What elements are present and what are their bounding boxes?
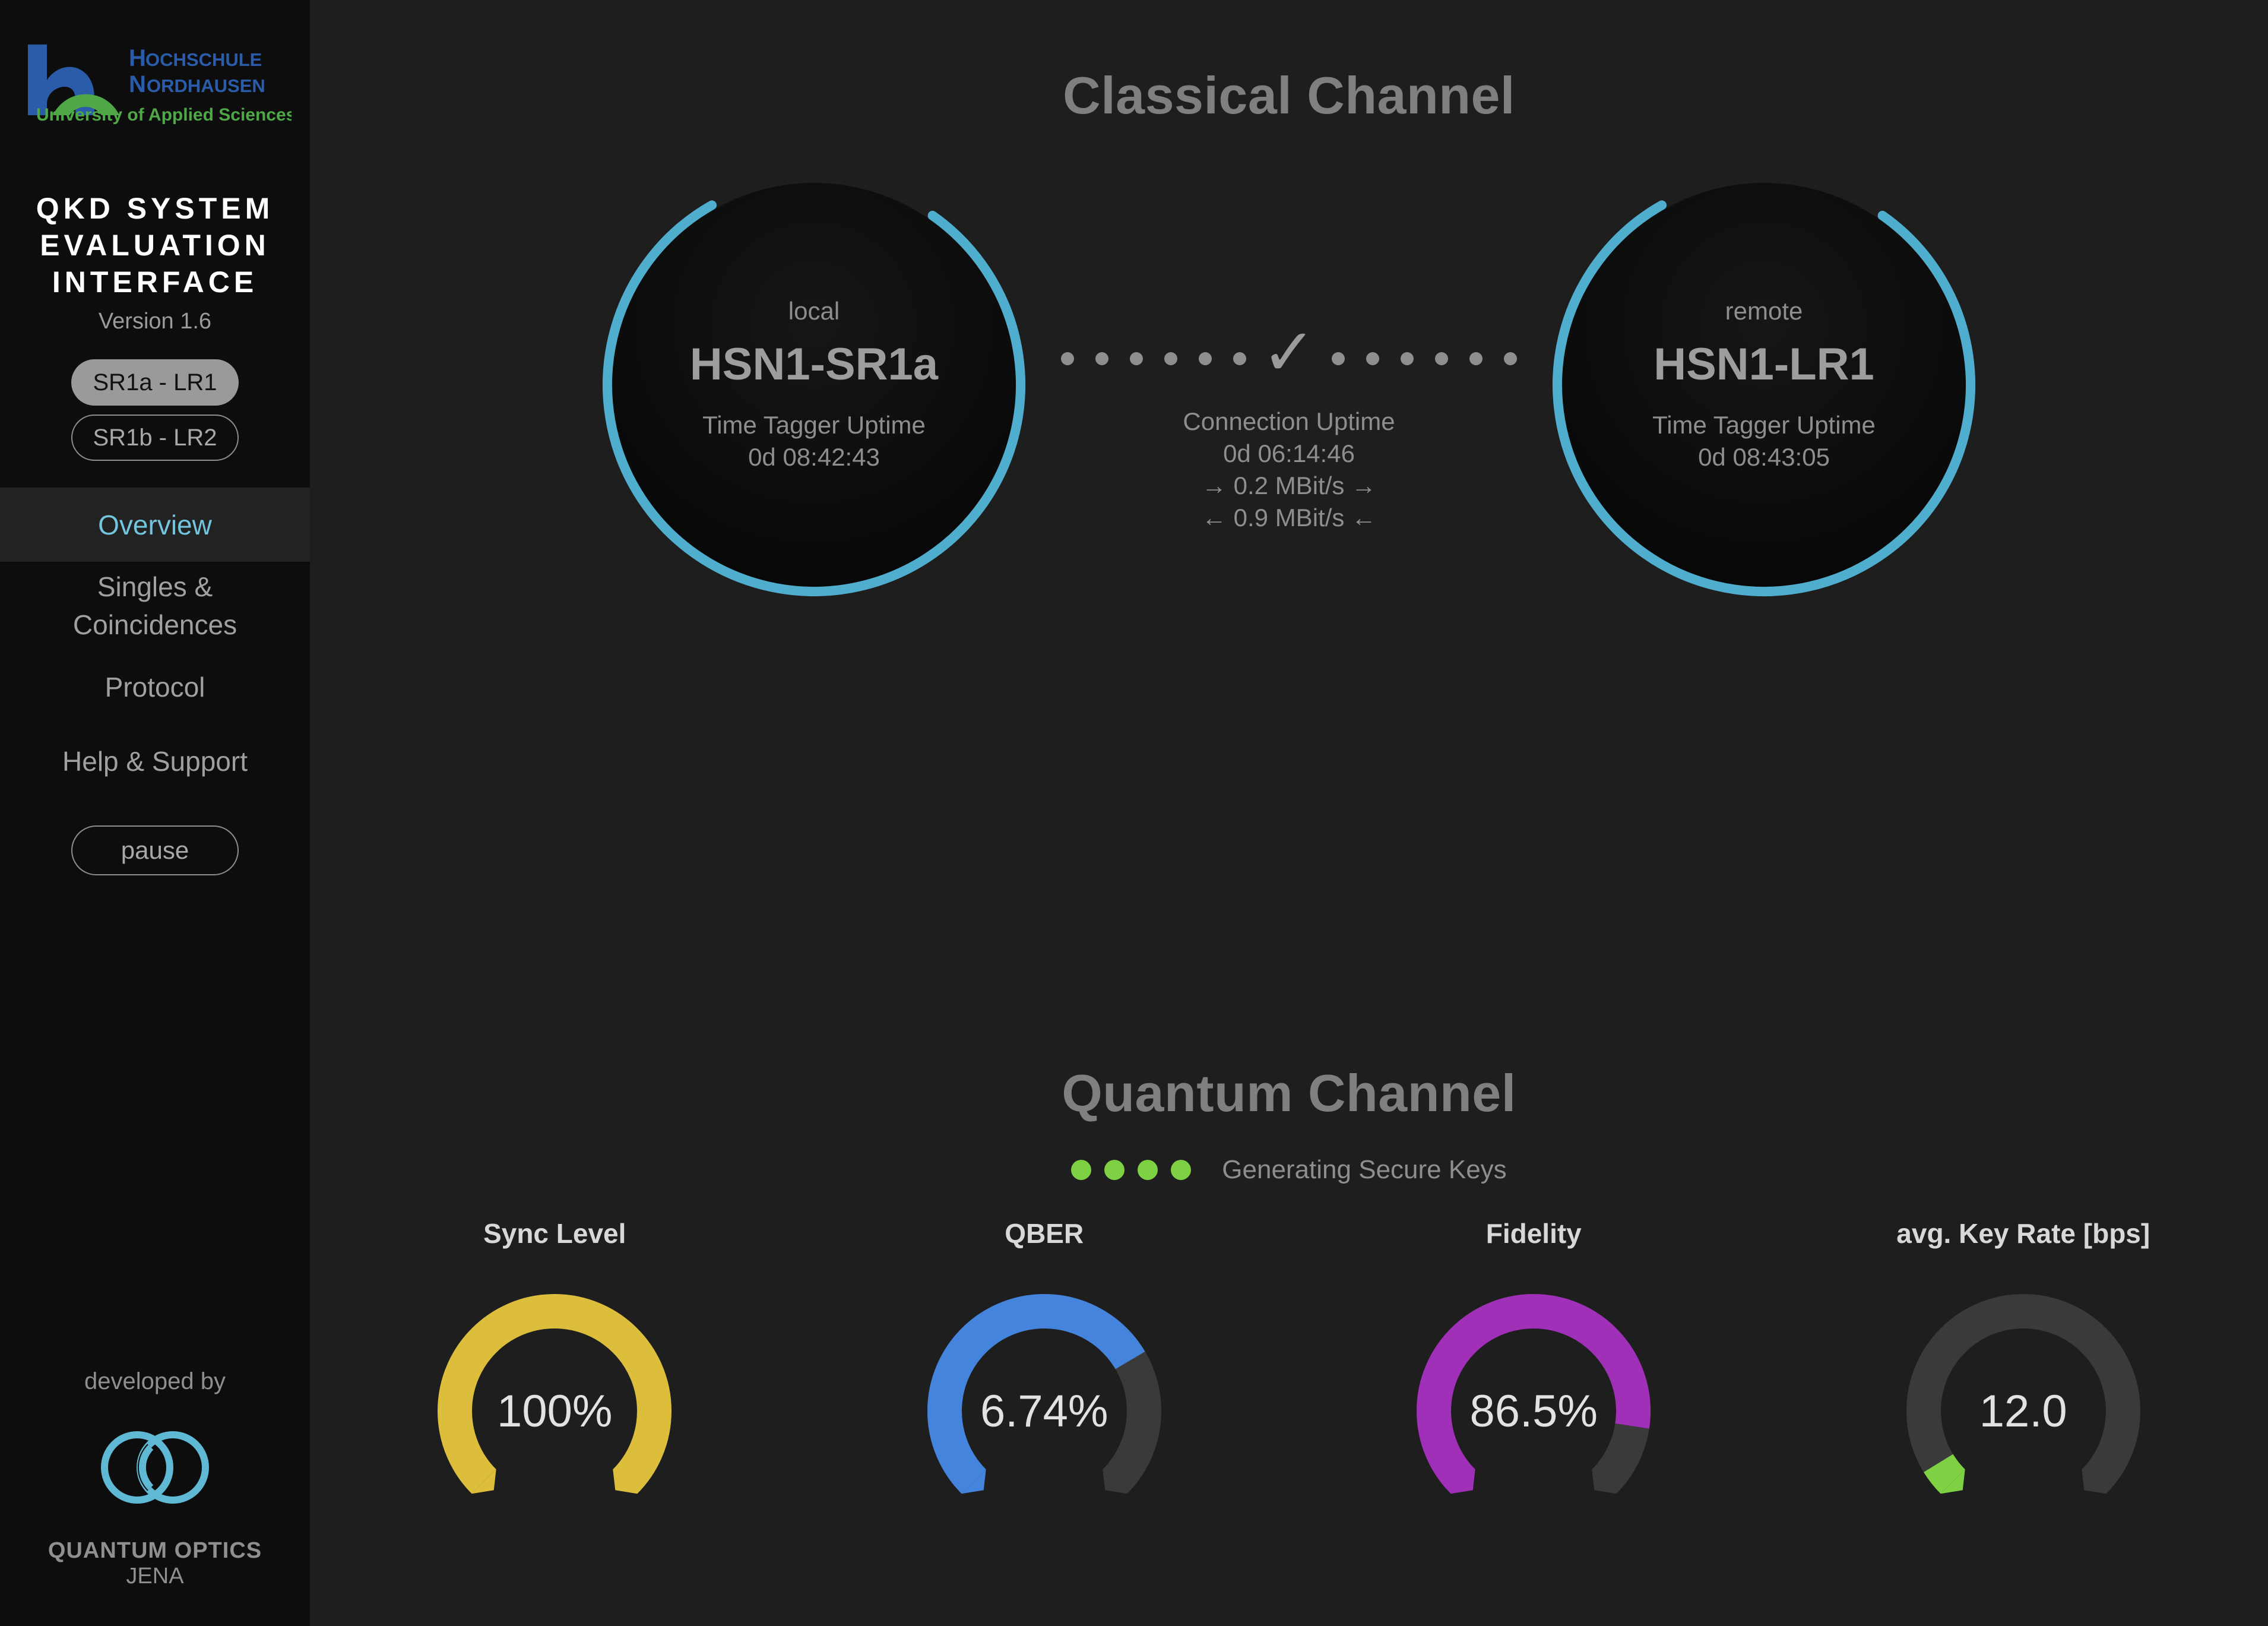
link-dot bbox=[1401, 352, 1414, 365]
quantum-optics-jena-logo-icon bbox=[81, 1413, 229, 1523]
gauge-label: Sync Level bbox=[483, 1217, 626, 1249]
sidebar-item-singles-coincidences[interactable]: Singles & Coincidences bbox=[0, 562, 310, 650]
gauge-label: Fidelity bbox=[1486, 1217, 1582, 1249]
status-dot bbox=[1104, 1160, 1125, 1180]
gauge-value-text: 86.5% bbox=[1409, 1286, 1658, 1536]
developer-credit: developed by QUANTUM OPTICS JENA bbox=[0, 1368, 310, 1589]
qkd-evaluation-interface: H OCHSCHULE N ORDHAUSEN University of Ap… bbox=[0, 0, 2268, 1626]
remote-node-name: HSN1-LR1 bbox=[1654, 339, 1874, 390]
connection-ok-check-icon: ✓ bbox=[1262, 327, 1316, 379]
company-name: QUANTUM OPTICS bbox=[0, 1538, 310, 1564]
gauge-ring: 100% bbox=[430, 1286, 679, 1536]
link-dot bbox=[1164, 352, 1177, 365]
remote-node-uptime-label: Time Tagger Uptime bbox=[1652, 409, 1876, 441]
company-city: JENA bbox=[0, 1564, 310, 1589]
connection-info: Connection Uptime 0d 06:14:46 → 0.2 MBit… bbox=[1031, 406, 1547, 534]
app-title: QKD SYSTEM EVALUATION INTERFACE bbox=[0, 190, 310, 300]
link-dot bbox=[1095, 352, 1108, 365]
quantum-status-row: Generating Secure Keys bbox=[310, 1155, 2268, 1185]
sidebar: H OCHSCHULE N ORDHAUSEN University of Ap… bbox=[0, 0, 310, 1626]
link-dot bbox=[1332, 352, 1345, 365]
svg-text:H: H bbox=[129, 45, 146, 71]
status-dot bbox=[1138, 1160, 1158, 1180]
link-dots-left bbox=[1061, 352, 1246, 365]
gauge-label: QBER bbox=[1005, 1217, 1084, 1249]
gauge-value-text: 6.74% bbox=[920, 1286, 1169, 1536]
svg-text:OCHSCHULE: OCHSCHULE bbox=[145, 49, 262, 70]
status-dot bbox=[1071, 1160, 1091, 1180]
connection-uptime-value: 0d 06:14:46 bbox=[1031, 438, 1547, 470]
device-pair-selector: SR1a - LR1 SR1b - LR2 bbox=[71, 359, 239, 461]
quantum-metric-gauges: Sync Level100%QBER6.74%Fidelity86.5%avg.… bbox=[310, 1217, 2268, 1586]
remote-node[interactable]: remote HSN1-LR1 Time Tagger Uptime 0d 08… bbox=[1547, 168, 1981, 602]
classical-channel-title: Classical Channel bbox=[310, 65, 2268, 126]
link-dot bbox=[1435, 352, 1448, 365]
gauge-fidelity: Fidelity86.5% bbox=[1350, 1217, 1718, 1536]
app-version: Version 1.6 bbox=[0, 309, 310, 334]
main-content: Classical Channel local HSN1-SR1 bbox=[310, 0, 2268, 1626]
link-dot bbox=[1199, 352, 1212, 365]
link-dot bbox=[1061, 352, 1074, 365]
local-node-uptime-label: Time Tagger Uptime bbox=[702, 409, 926, 441]
classical-channel-row: local HSN1-SR1a Time Tagger Uptime 0d 08… bbox=[310, 153, 2268, 616]
link-dot bbox=[1469, 352, 1483, 365]
gauge-ring: 12.0 bbox=[1899, 1286, 2148, 1536]
pair-button-sr1b-lr2[interactable]: SR1b - LR2 bbox=[71, 415, 239, 461]
hochschule-nordhausen-logo: H OCHSCHULE N ORDHAUSEN University of Ap… bbox=[18, 33, 292, 128]
sidebar-item-overview[interactable]: Overview bbox=[0, 488, 310, 562]
local-node-role: local bbox=[788, 297, 840, 325]
status-dot bbox=[1171, 1160, 1191, 1180]
quantum-channel-title: Quantum Channel bbox=[310, 1063, 2268, 1124]
link-dot-track: ✓ bbox=[1031, 338, 1547, 379]
link-dot bbox=[1130, 352, 1143, 365]
link-dot bbox=[1233, 352, 1246, 365]
local-node-uptime-value: 0d 08:42:43 bbox=[748, 441, 880, 473]
sidebar-item-protocol[interactable]: Protocol bbox=[0, 650, 310, 724]
remote-node-uptime-value: 0d 08:43:05 bbox=[1698, 441, 1830, 473]
sidebar-item-help-support[interactable]: Help & Support bbox=[0, 724, 310, 798]
sidebar-nav: Overview Singles & Coincidences Protocol… bbox=[0, 488, 310, 798]
gauge-ring: 6.74% bbox=[920, 1286, 1169, 1536]
link-dots-right bbox=[1332, 352, 1517, 365]
svg-text:ORDHAUSEN: ORDHAUSEN bbox=[147, 75, 265, 96]
remote-node-role: remote bbox=[1725, 297, 1803, 325]
gauge-value-text: 12.0 bbox=[1899, 1286, 2148, 1536]
developed-by-label: developed by bbox=[0, 1368, 310, 1395]
connection-link: ✓ Connection Uptime 0d 06:14:46 → 0.2 MB… bbox=[1031, 168, 1547, 602]
gauge-value-text: 100% bbox=[430, 1286, 679, 1536]
svg-text:University of Applied Sciences: University of Applied Sciences bbox=[36, 105, 292, 125]
gauge-qber: QBER6.74% bbox=[860, 1217, 1228, 1536]
gauge-sync-level: Sync Level100% bbox=[370, 1217, 739, 1536]
gauge-ring: 86.5% bbox=[1409, 1286, 1658, 1536]
pair-button-sr1a-lr1[interactable]: SR1a - LR1 bbox=[71, 359, 239, 406]
local-node[interactable]: local HSN1-SR1a Time Tagger Uptime 0d 08… bbox=[597, 168, 1031, 602]
svg-text:N: N bbox=[129, 71, 146, 97]
connection-rx-rate: ← 0.9 MBit/s ← bbox=[1031, 502, 1547, 534]
quantum-status-text: Generating Secure Keys bbox=[1222, 1155, 1506, 1185]
pause-button[interactable]: pause bbox=[71, 825, 239, 875]
connection-tx-rate: → 0.2 MBit/s → bbox=[1031, 470, 1547, 502]
link-dot bbox=[1366, 352, 1379, 365]
link-dot bbox=[1504, 352, 1517, 365]
gauge-label: avg. Key Rate [bps] bbox=[1896, 1217, 2150, 1249]
local-node-name: HSN1-SR1a bbox=[690, 339, 938, 390]
gauge-avg-key-rate-bps: avg. Key Rate [bps]12.0 bbox=[1839, 1217, 2207, 1536]
connection-uptime-label: Connection Uptime bbox=[1031, 406, 1547, 438]
